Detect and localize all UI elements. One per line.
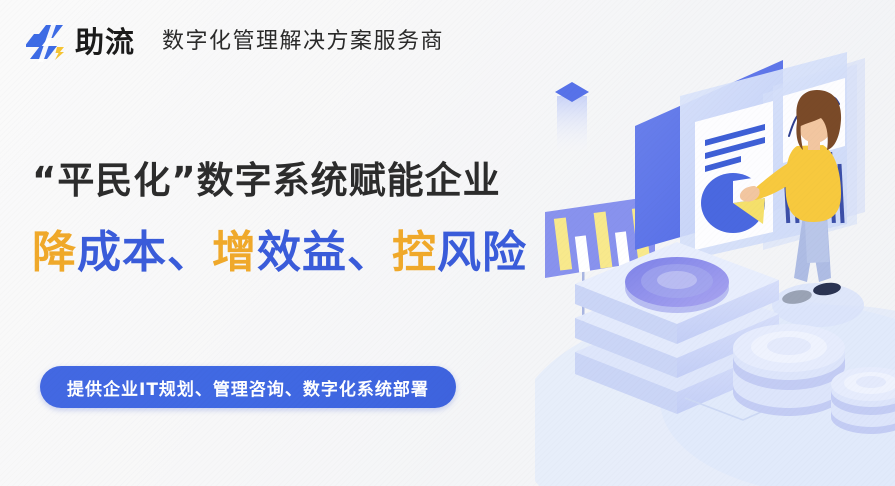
logo-wordmark: 助流 <box>75 28 135 57</box>
data-dashboard-isometric-illustration <box>535 0 895 486</box>
brand-header: 助流 数字化管理解决方案服务商 <box>26 22 444 62</box>
database-cylinders <box>733 324 895 434</box>
zhuliu-bolt-logo-icon <box>26 22 70 62</box>
headline-secondary: 降成本、增效益、控风险 <box>32 216 527 280</box>
cta-button[interactable]: 提供企业IT规划、管理咨询、数字化系统部署 <box>40 366 456 408</box>
headline-part-2: 增 <box>212 227 257 278</box>
floating-cube <box>555 82 589 154</box>
brand-tagline: 数字化管理解决方案服务商 <box>162 31 444 53</box>
headline-part-5: 风险 <box>437 227 527 278</box>
pie-chart <box>701 173 765 233</box>
headline-part-4: 控 <box>392 227 437 278</box>
headline-primary: “平民化”数字系统赋能企业 <box>32 150 501 204</box>
headline-part-3: 效益、 <box>257 227 392 278</box>
database-large <box>733 324 845 416</box>
headline-part-0: 降 <box>32 227 77 278</box>
database-small <box>831 367 895 434</box>
hero-banner: 助流 数字化管理解决方案服务商 “平民化”数字系统赋能企业 降成本、增效益、控风… <box>0 0 895 486</box>
top-disc <box>625 257 729 313</box>
headline-part-1: 成本、 <box>77 227 212 278</box>
